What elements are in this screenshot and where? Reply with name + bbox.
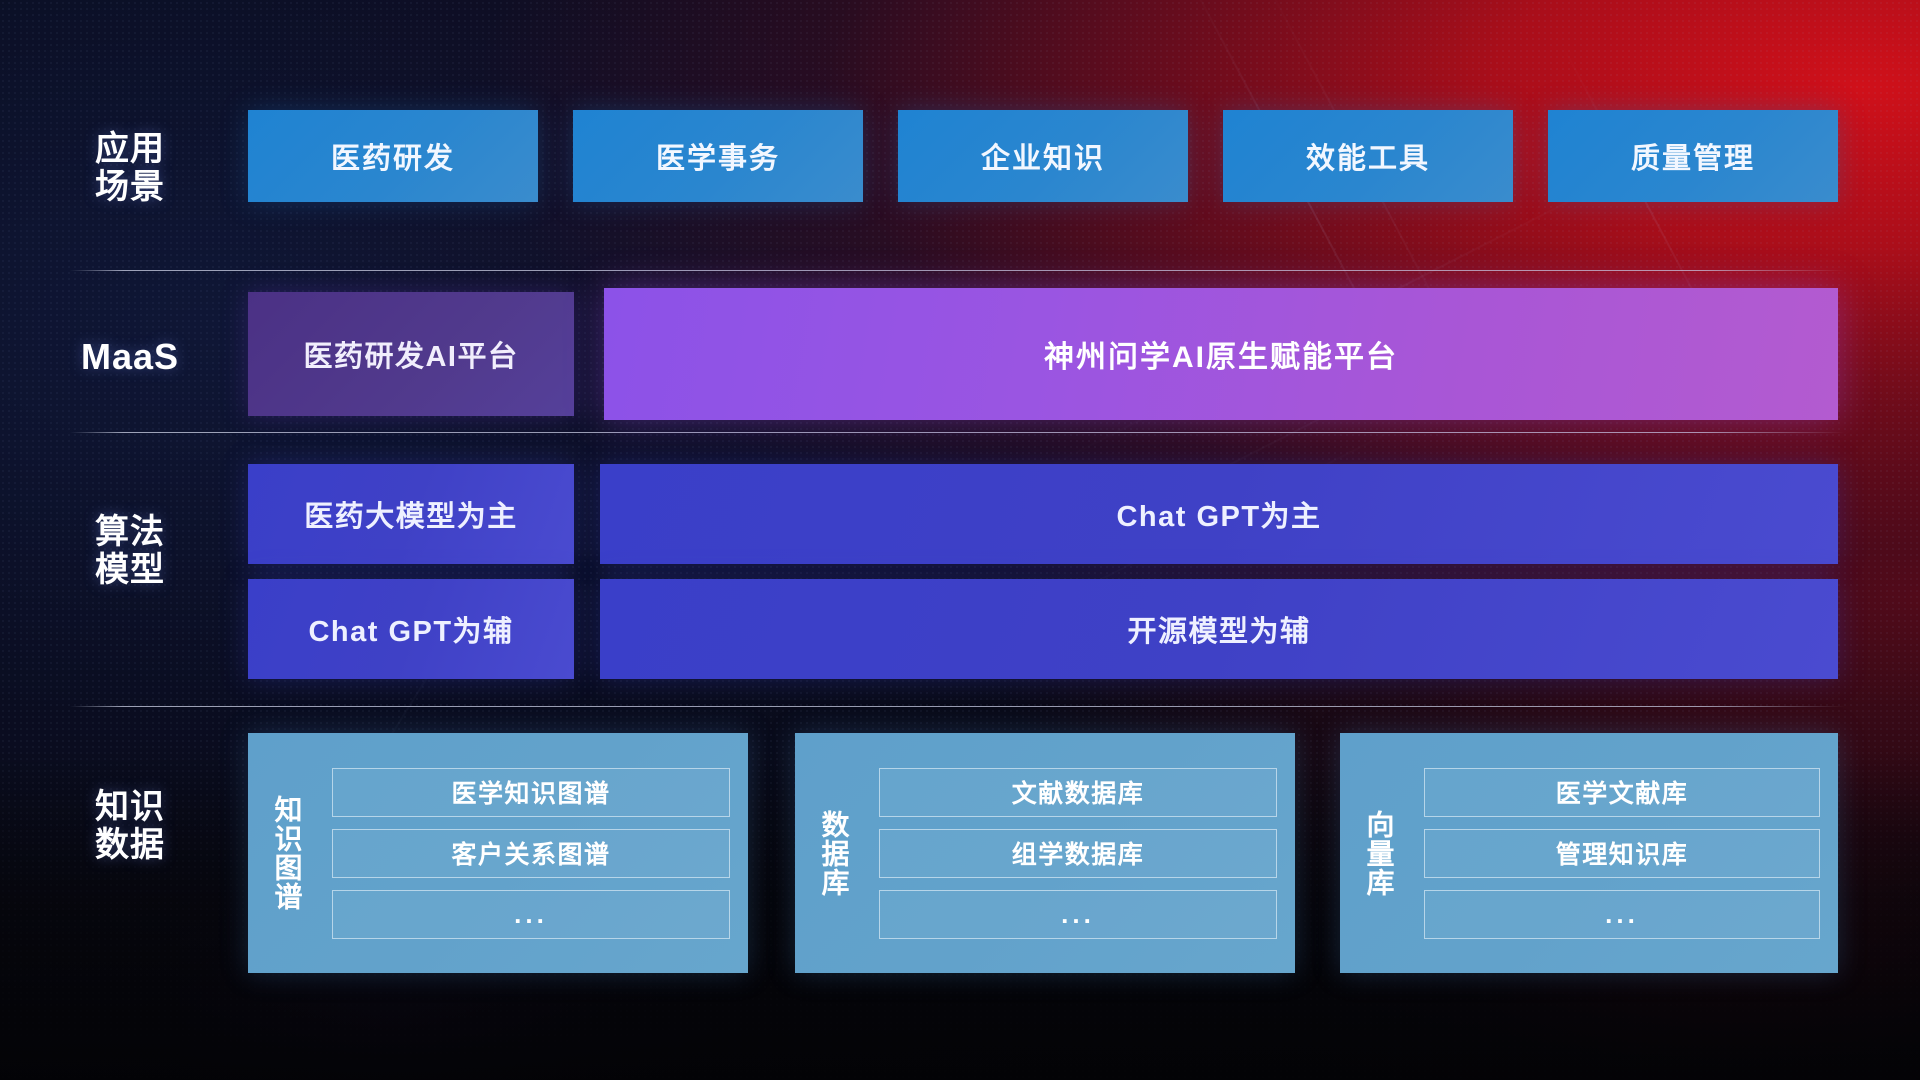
- row-label-line-2: 模型: [70, 551, 190, 589]
- app-box-quality-management[interactable]: 质量管理: [1548, 110, 1838, 202]
- knowledge-item[interactable]: 管理知识库: [1424, 829, 1820, 878]
- row-label-line-2: 数据: [70, 826, 190, 864]
- architecture-diagram: 应用 场景 医药研发 医学事务 企业知识 效能工具 质量管理 MaaS 医药研发…: [0, 0, 1920, 1080]
- knowledge-item[interactable]: 客户关系图谱: [332, 829, 730, 878]
- knowledge-card-item-list: 文献数据库 组学数据库 ...: [873, 733, 1295, 973]
- knowledge-item[interactable]: 医学文献库: [1424, 768, 1820, 817]
- app-box-medicine-rd[interactable]: 医药研发: [248, 110, 538, 202]
- row-label-algorithm-model: 算法 模型: [70, 513, 190, 589]
- knowledge-card-database[interactable]: 数据库 文献数据库 组学数据库 ...: [795, 733, 1295, 973]
- row-label-line-1: 应用: [70, 130, 190, 168]
- row-label-application-scenario: 应用 场景: [70, 130, 190, 206]
- row-separator-2: [70, 432, 1845, 433]
- row-separator-1: [70, 270, 1845, 271]
- knowledge-item[interactable]: 组学数据库: [879, 829, 1277, 878]
- algo-box-chatgpt-primary[interactable]: Chat GPT为主: [600, 464, 1838, 564]
- knowledge-card-knowledge-graph[interactable]: 知识图谱 医学知识图谱 客户关系图谱 ...: [248, 733, 748, 973]
- app-box-medical-affairs[interactable]: 医学事务: [573, 110, 863, 202]
- knowledge-item[interactable]: 文献数据库: [879, 768, 1277, 817]
- maas-box-shenzhou-wenxue-platform[interactable]: 神州问学AI原生赋能平台: [604, 288, 1838, 420]
- knowledge-item-more[interactable]: ...: [879, 890, 1277, 939]
- knowledge-card-title: 向量库: [1340, 733, 1418, 973]
- row-label-knowledge-data: 知识 数据: [70, 788, 190, 864]
- knowledge-card-item-list: 医学文献库 管理知识库 ...: [1418, 733, 1838, 973]
- row-label-line-2: 场景: [70, 168, 190, 206]
- knowledge-item[interactable]: 医学知识图谱: [332, 768, 730, 817]
- knowledge-card-title: 数据库: [795, 733, 873, 973]
- knowledge-item-more[interactable]: ...: [332, 890, 730, 939]
- knowledge-card-item-list: 医学知识图谱 客户关系图谱 ...: [326, 733, 748, 973]
- app-box-enterprise-knowledge[interactable]: 企业知识: [898, 110, 1188, 202]
- algo-box-opensource-model-secondary[interactable]: 开源模型为辅: [600, 579, 1838, 679]
- row-label-line-1: 知识: [70, 788, 190, 826]
- app-box-efficiency-tools[interactable]: 效能工具: [1223, 110, 1513, 202]
- row-label-line-1: 算法: [70, 513, 190, 551]
- row-separator-3: [70, 706, 1845, 707]
- algo-box-medicine-large-model-primary[interactable]: 医药大模型为主: [248, 464, 574, 564]
- knowledge-card-vector-store[interactable]: 向量库 医学文献库 管理知识库 ...: [1340, 733, 1838, 973]
- knowledge-card-title: 知识图谱: [248, 733, 326, 973]
- knowledge-item-more[interactable]: ...: [1424, 890, 1820, 939]
- algo-box-chatgpt-secondary[interactable]: Chat GPT为辅: [248, 579, 574, 679]
- maas-box-medicine-rd-ai-platform[interactable]: 医药研发AI平台: [248, 292, 574, 416]
- row-label-maas: MaaS: [70, 337, 190, 377]
- row-label-line-1: MaaS: [70, 337, 190, 377]
